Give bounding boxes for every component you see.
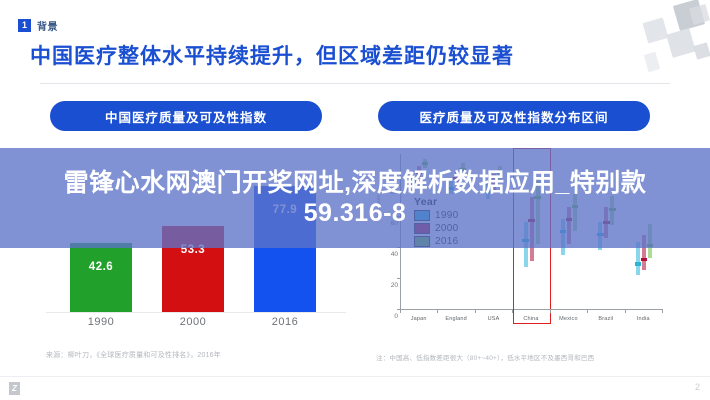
range-median-India-2000 <box>641 258 647 261</box>
bar-value-label: 42.6 <box>70 261 132 273</box>
panel-header-right: 医疗质量及可及性指数分布区间 <box>378 101 650 131</box>
decor-square-5 <box>644 52 660 73</box>
bar-rect: 42.6 <box>70 243 132 312</box>
section-badge: 1 背景 <box>18 18 58 33</box>
decor-square-2 <box>643 18 669 44</box>
watermark-text: 雷锋心水网澳门开奖网址,深度解析数据应用_特别款59.316-8 <box>32 168 678 229</box>
y-tick-label: 0 <box>382 305 398 323</box>
watermark-band: 雷锋心水网澳门开奖网址,深度解析数据应用_特别款59.316-8 <box>0 148 710 248</box>
x-tick-mark <box>662 309 663 313</box>
x-tick-mark <box>587 309 588 313</box>
x-tick-mark <box>512 309 513 313</box>
y-tick-text: 20 <box>391 282 398 289</box>
x-tick-mark <box>475 309 476 313</box>
decor-square-6 <box>693 42 710 59</box>
bar-1990: 42.6 <box>70 243 132 312</box>
bar-x-labels: 199020002016 <box>46 316 346 334</box>
decorative-squares <box>630 0 710 78</box>
right-chart-note: 注：中国高、低指数差距很大（80+~40+），低水平地区不及墨西哥和巴西 <box>376 352 594 362</box>
x-tick-label: Japan <box>411 316 427 322</box>
slide-canvas: 1 背景 中国医疗整体水平持续提升，但区域差距仍较显著 中国医疗质量及可及性指数… <box>0 0 710 400</box>
badge-number: 1 <box>18 19 31 32</box>
badge-label: 背景 <box>37 18 58 33</box>
bar-x-label: 2016 <box>254 316 316 328</box>
page-title: 中国医疗整体水平持续提升，但区域差距仍较显著 <box>30 40 514 70</box>
footer-divider <box>0 376 710 377</box>
y-tick-label: 20 <box>382 274 398 292</box>
x-tick-label: China <box>523 316 538 322</box>
x-tick-mark <box>437 309 438 313</box>
panel-header-left: 中国医疗质量及可及性指数 <box>50 101 322 131</box>
bar-x-label: 1990 <box>70 316 132 328</box>
x-tick-label: Mexico <box>559 316 578 322</box>
bar-x-label: 2000 <box>162 316 224 328</box>
zhi-icon: Z <box>9 382 20 395</box>
header-divider <box>40 83 670 84</box>
x-tick-label: USA <box>488 316 500 322</box>
x-tick-mark <box>400 309 401 313</box>
decor-square-3 <box>689 4 710 25</box>
x-tick-label: Brazil <box>598 316 613 322</box>
left-chart-source: 来源：柳叶刀，《全球医疗质量和可及性排名》，2016年 <box>46 350 221 360</box>
decor-square-4 <box>666 28 696 58</box>
page-number: 2 <box>695 382 700 392</box>
x-tick-label: England <box>445 316 467 322</box>
x-tick-mark <box>625 309 626 313</box>
y-tick-mark <box>397 278 401 279</box>
bar-axis-line <box>46 312 346 313</box>
x-tick-label: India <box>637 316 650 322</box>
x-tick-mark <box>550 309 551 313</box>
y-tick-text: 0 <box>394 313 398 320</box>
y-tick-text: 40 <box>391 251 398 258</box>
range-median-India-1990 <box>635 262 641 265</box>
